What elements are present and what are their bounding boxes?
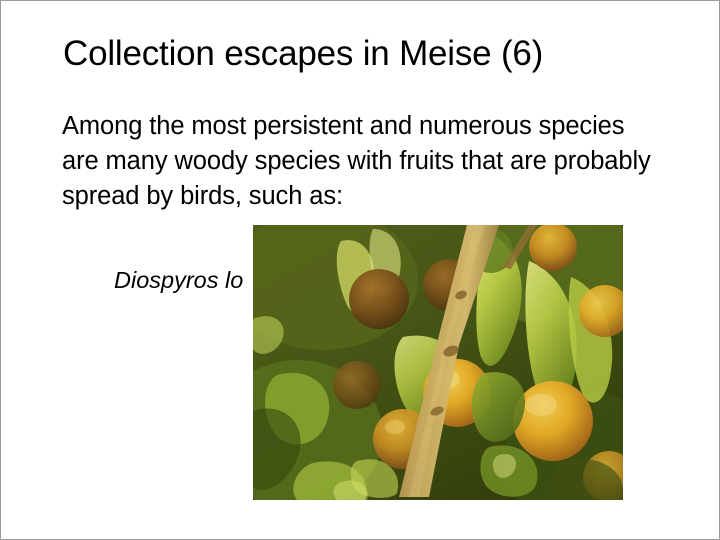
persimmon-photo-illustration — [253, 225, 623, 500]
species-caption: Diospyros lo — [114, 265, 243, 295]
persimmon-photo — [253, 225, 623, 500]
presentation-slide: Collection escapes in Meise (6) Among th… — [0, 0, 720, 540]
page-title: Collection escapes in Meise (6) — [63, 32, 663, 76]
body-paragraph: Among the most persistent and numerous s… — [62, 109, 662, 214]
